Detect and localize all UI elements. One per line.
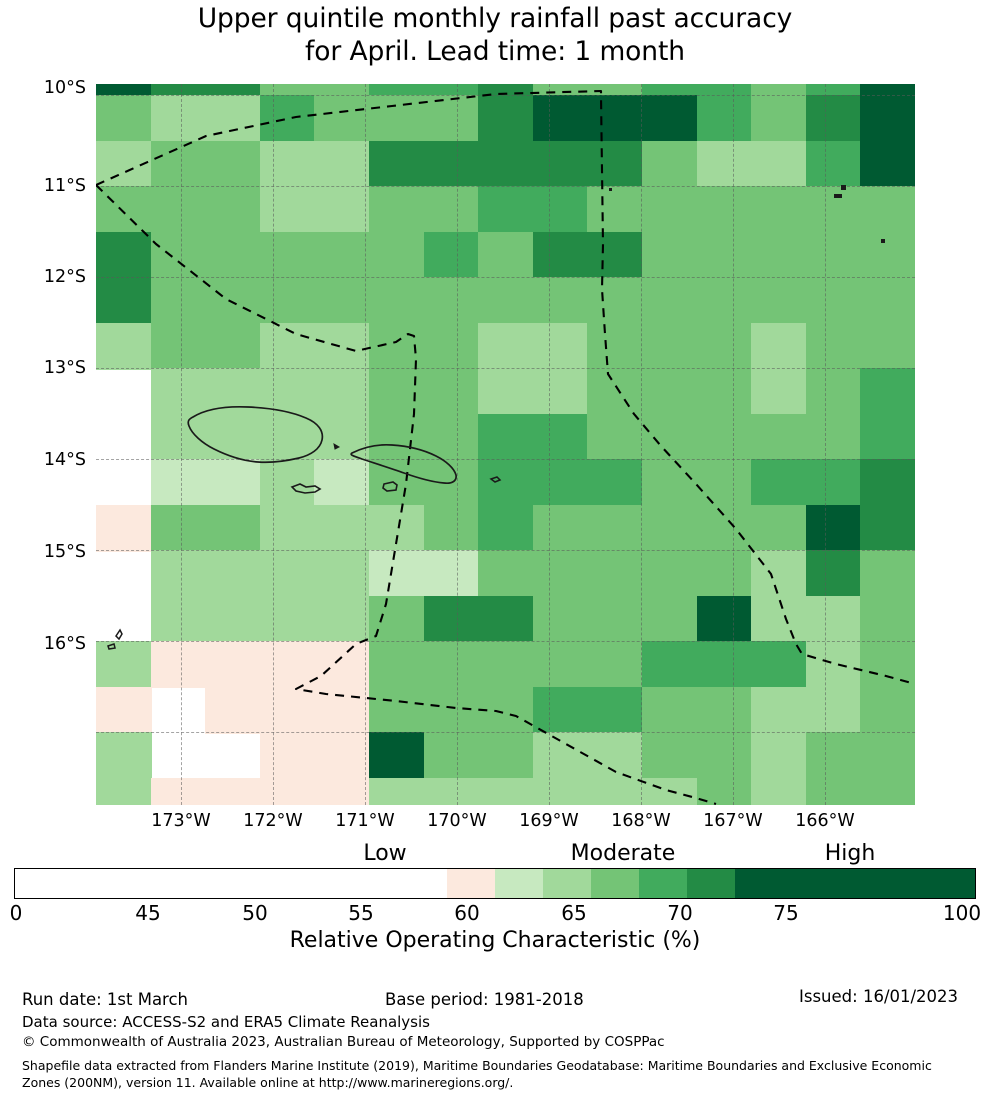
heatmap-cell xyxy=(314,778,370,806)
heatmap-cell xyxy=(369,141,425,188)
band-label-low: Low xyxy=(363,841,406,866)
heatmap-cell xyxy=(806,368,862,415)
heatmap-cell xyxy=(533,505,589,552)
heatmap-cell xyxy=(806,277,862,324)
x-tick-5: 168°W xyxy=(611,811,670,831)
heatmap-cell xyxy=(314,186,370,233)
heatmap-cell xyxy=(424,141,480,188)
issued-date-text: Issued: 16/01/2023 xyxy=(799,987,958,1006)
heatmap-cell xyxy=(369,414,425,461)
heatmap-cell xyxy=(314,505,370,552)
heatmap-cell xyxy=(642,596,698,643)
heatmap-cell xyxy=(533,323,589,370)
x-tick-7: 166°W xyxy=(795,811,854,831)
heatmap-cell xyxy=(806,95,862,142)
heatmap-cell xyxy=(369,596,425,643)
heatmap-cell xyxy=(751,732,807,779)
heatmap-cell xyxy=(587,778,643,806)
heatmap-cell xyxy=(806,641,862,688)
heatmap-cell xyxy=(697,186,753,233)
heatmap-cell xyxy=(642,232,698,279)
heatmap-cell xyxy=(642,778,698,806)
heatmap-cell xyxy=(260,641,316,688)
heatmap-cell xyxy=(424,687,480,734)
heatmap-cell xyxy=(587,550,643,597)
heatmap-cell xyxy=(751,232,807,279)
colorbar-axis-label: Relative Operating Characteristic (%) xyxy=(0,928,990,953)
x-tick-2: 171°W xyxy=(335,811,394,831)
heatmap-cell xyxy=(314,323,370,370)
heatmap-cell xyxy=(806,414,862,461)
colorbar-segment xyxy=(735,869,975,898)
heatmap-cell xyxy=(478,414,534,461)
heatmap-cell xyxy=(478,141,534,188)
heatmap-cell xyxy=(533,414,589,461)
heatmap-cell xyxy=(424,186,480,233)
heatmap-cell xyxy=(205,550,261,597)
heatmap-cell xyxy=(260,596,316,643)
heatmap-cell xyxy=(151,778,207,806)
heatmap-cell xyxy=(697,95,753,142)
heatmap-cell xyxy=(860,186,915,233)
heatmap-cell xyxy=(314,368,370,415)
heatmap-cell xyxy=(478,277,534,324)
heatmap-cell xyxy=(478,778,534,806)
heatmap-cell xyxy=(697,277,753,324)
heatmap-cell xyxy=(478,687,534,734)
heatmap-cell xyxy=(369,550,425,597)
heatmap-cell xyxy=(587,641,643,688)
heatmap-cell xyxy=(587,459,643,506)
heatmap-cell xyxy=(860,141,915,188)
heatmap-cell xyxy=(697,641,753,688)
heatmap-cell xyxy=(369,459,425,506)
heatmap-cell xyxy=(151,596,207,643)
colorbar-band-labels: Low Moderate High xyxy=(0,841,990,867)
heatmap-cell xyxy=(642,186,698,233)
heatmap-cell xyxy=(151,505,207,552)
heatmap-cell xyxy=(205,368,261,415)
heatmap-cell xyxy=(697,550,753,597)
heatmap-cell xyxy=(697,141,753,188)
heatmap-cell xyxy=(806,778,862,806)
heatmap-cell xyxy=(533,277,589,324)
heatmap-cell xyxy=(314,732,370,779)
heatmap-cell xyxy=(478,550,534,597)
heatmap-cell xyxy=(424,550,480,597)
heatmap-cell xyxy=(642,277,698,324)
page-title: Upper quintile monthly rainfall past acc… xyxy=(0,2,990,68)
heatmap-cell xyxy=(205,641,261,688)
shapefile-credit-text: Shapefile data extracted from Flanders M… xyxy=(22,1057,972,1091)
x-tick-6: 167°W xyxy=(703,811,762,831)
base-period-text: Base period: 1981-2018 xyxy=(385,990,584,1009)
heatmap-cell xyxy=(533,368,589,415)
heatmap-cell xyxy=(806,323,862,370)
heatmap-cell xyxy=(260,232,316,279)
heatmap-cell xyxy=(751,186,807,233)
heatmap-cell xyxy=(587,323,643,370)
heatmap-cell xyxy=(151,368,207,415)
heatmap-cell xyxy=(642,414,698,461)
heatmap-cell xyxy=(478,505,534,552)
heatmap-cell xyxy=(860,505,915,552)
heatmap-cell xyxy=(96,687,152,734)
heatmap-cell xyxy=(533,459,589,506)
heatmap-cell xyxy=(205,95,261,142)
heatmap-cell xyxy=(314,414,370,461)
x-tick-0: 173°W xyxy=(151,811,210,831)
heatmap-cell xyxy=(697,323,753,370)
heatmap-cell xyxy=(151,414,207,461)
heatmap-cell xyxy=(151,232,207,279)
x-tick-3: 170°W xyxy=(427,811,486,831)
heatmap-cell xyxy=(260,778,316,806)
heatmap-cell xyxy=(587,505,643,552)
heatmap-cell xyxy=(260,95,316,142)
heatmap-cell xyxy=(642,95,698,142)
heatmap-cell xyxy=(205,459,261,506)
heatmap-cell xyxy=(260,414,316,461)
heatmap-cell xyxy=(151,186,207,233)
heatmap-cell xyxy=(806,596,862,643)
heatmap-cell xyxy=(478,641,534,688)
heatmap-cell xyxy=(860,596,915,643)
heatmap-cell xyxy=(697,687,753,734)
heatmap-cell xyxy=(587,232,643,279)
heatmap-cell xyxy=(751,505,807,552)
heatmap-cell xyxy=(369,641,425,688)
heatmap-cell xyxy=(697,232,753,279)
heatmap-cell xyxy=(860,414,915,461)
heatmap-cell xyxy=(424,277,480,324)
heatmap-cell xyxy=(642,323,698,370)
heatmap-cell xyxy=(260,368,316,415)
heatmap-cell xyxy=(806,141,862,188)
heatmap-cell xyxy=(205,505,261,552)
heatmap-cell xyxy=(205,186,261,233)
x-tick-4: 169°W xyxy=(519,811,578,831)
colorbar-segment xyxy=(495,869,543,898)
cbar-tick-3: 55 xyxy=(348,901,373,925)
heatmap-cell xyxy=(424,641,480,688)
heatmap-cell xyxy=(642,141,698,188)
cbar-tick-0: 0 xyxy=(10,901,23,925)
heatmap-cell xyxy=(151,141,207,188)
heatmap-cell xyxy=(860,459,915,506)
heatmap-cell xyxy=(860,232,915,279)
heatmap-cell xyxy=(314,687,370,734)
cbar-tick-4: 60 xyxy=(454,901,479,925)
heatmap-cell xyxy=(860,368,915,415)
y-tick-3: 13°S xyxy=(0,358,86,378)
heatmap-cell xyxy=(533,232,589,279)
heatmap-cell xyxy=(205,778,261,806)
heatmap-cell xyxy=(587,141,643,188)
heatmap-cell xyxy=(369,232,425,279)
heatmap-cell xyxy=(533,778,589,806)
cbar-tick-7: 75 xyxy=(773,901,798,925)
y-tick-2: 12°S xyxy=(0,267,86,287)
heatmap-cell xyxy=(369,186,425,233)
heatmap-cell xyxy=(151,95,207,142)
heatmap-cell xyxy=(96,778,152,806)
heatmap-cell xyxy=(151,641,207,688)
heatmap-cell xyxy=(424,368,480,415)
heatmap-cell xyxy=(751,95,807,142)
heatmap-cell xyxy=(697,732,753,779)
heatmap-cell xyxy=(424,414,480,461)
colorbar-segment xyxy=(15,869,447,898)
heatmap-cell xyxy=(697,414,753,461)
band-label-moderate: Moderate xyxy=(571,841,676,866)
heatmap-cell xyxy=(533,186,589,233)
heatmap-cell xyxy=(751,596,807,643)
heatmap-cell xyxy=(478,368,534,415)
heatmap-cell xyxy=(369,368,425,415)
colorbar-segment xyxy=(447,869,495,898)
heatmap-cell xyxy=(314,550,370,597)
heatmap-cell xyxy=(205,323,261,370)
copyright-text: © Commonwealth of Australia 2023, Austra… xyxy=(22,1034,665,1050)
heatmap-cell xyxy=(697,505,753,552)
heatmap-cell xyxy=(314,459,370,506)
heatmap-cell xyxy=(369,778,425,806)
heatmap-cell xyxy=(751,323,807,370)
heatmap-cell xyxy=(697,368,753,415)
heatmap-cell xyxy=(260,141,316,188)
colorbar-segment xyxy=(543,869,591,898)
heatmap-cell xyxy=(314,277,370,324)
heatmap-cell xyxy=(697,778,753,806)
colorbar-ticks: 0 45 50 55 60 65 70 75 100 xyxy=(0,901,990,925)
heatmap-cell xyxy=(151,550,207,597)
heatmap-cell xyxy=(96,232,152,279)
heatmap-cell xyxy=(806,732,862,779)
heatmap-cell xyxy=(205,232,261,279)
heatmap-cell xyxy=(96,186,152,233)
heatmap-cell xyxy=(860,550,915,597)
heatmap-cell xyxy=(751,459,807,506)
heatmap-cell xyxy=(751,550,807,597)
heatmap-cell xyxy=(424,232,480,279)
heatmap-cell xyxy=(587,186,643,233)
heatmap-cell xyxy=(205,596,261,643)
heatmap-cell xyxy=(424,95,480,142)
heatmap-cell xyxy=(806,550,862,597)
heatmap-cell xyxy=(96,95,152,142)
heatmap-cell xyxy=(96,505,152,552)
heatmap-cell xyxy=(860,277,915,324)
heatmap-cell xyxy=(642,641,698,688)
heatmap-cell xyxy=(533,732,589,779)
rainfall-accuracy-map[interactable] xyxy=(96,84,915,805)
heatmap-cell xyxy=(533,641,589,688)
cbar-tick-5: 65 xyxy=(561,901,586,925)
heatmap-cell xyxy=(96,641,152,688)
heatmap-cell xyxy=(205,277,261,324)
heatmap-cell xyxy=(587,596,643,643)
cbar-tick-1: 45 xyxy=(135,901,160,925)
heatmap-cell xyxy=(533,687,589,734)
band-label-high: High xyxy=(825,841,876,866)
heatmap-cell xyxy=(642,459,698,506)
heatmap-cell xyxy=(533,550,589,597)
heatmap-cell xyxy=(260,732,316,779)
heatmap-cell xyxy=(314,596,370,643)
heatmap-cell xyxy=(369,687,425,734)
heatmap-cell xyxy=(260,459,316,506)
heatmap-cell xyxy=(478,596,534,643)
heatmap-cell xyxy=(424,505,480,552)
heatmap-cell xyxy=(587,732,643,779)
cbar-tick-6: 70 xyxy=(667,901,692,925)
heatmap-cell xyxy=(151,459,207,506)
heatmap-cell xyxy=(751,277,807,324)
heatmap-cell xyxy=(642,687,698,734)
heatmap-cell xyxy=(533,141,589,188)
heatmap-cell xyxy=(478,323,534,370)
heatmap-cell xyxy=(860,323,915,370)
heatmap-cell xyxy=(369,95,425,142)
heatmap-cell xyxy=(642,550,698,597)
heatmap-cell xyxy=(642,505,698,552)
heatmap-cell xyxy=(478,459,534,506)
y-tick-0: 10°S xyxy=(0,78,86,98)
heatmap-cell xyxy=(369,323,425,370)
heatmap-cell xyxy=(96,323,152,370)
heatmap-cell xyxy=(478,95,534,142)
heatmap-cell xyxy=(642,732,698,779)
x-tick-1: 172°W xyxy=(243,811,302,831)
heatmap-cell xyxy=(478,186,534,233)
heatmap-cell xyxy=(860,687,915,734)
heatmap-cell xyxy=(151,277,207,324)
heatmap-cell xyxy=(205,141,261,188)
heatmap-cell xyxy=(424,596,480,643)
heatmap-cell xyxy=(806,505,862,552)
heatmap-cell xyxy=(751,687,807,734)
heatmap-cell xyxy=(205,687,261,734)
heatmap-cell xyxy=(260,277,316,324)
y-tick-6: 16°S xyxy=(0,634,86,654)
y-tick-4: 14°S xyxy=(0,450,86,470)
heatmap-cell xyxy=(860,732,915,779)
heatmap-cell xyxy=(751,641,807,688)
heatmap-cell xyxy=(806,459,862,506)
heatmap-cell xyxy=(860,641,915,688)
heatmap-cell xyxy=(260,323,316,370)
run-date-text: Run date: 1st March xyxy=(22,990,188,1009)
heatmap-cell xyxy=(533,596,589,643)
heatmap-cell xyxy=(151,323,207,370)
heatmap-cell xyxy=(96,277,152,324)
data-source-text: Data source: ACCESS-S2 and ERA5 Climate … xyxy=(22,1013,430,1031)
cbar-tick-8: 100 xyxy=(943,901,981,925)
heatmap-cell xyxy=(314,641,370,688)
heatmap-cell xyxy=(806,186,862,233)
heatmap-cell xyxy=(806,232,862,279)
heatmap-cell xyxy=(697,596,753,643)
y-tick-1: 11°S xyxy=(0,176,86,196)
heatmap-cell xyxy=(751,141,807,188)
heatmap-cell xyxy=(478,732,534,779)
heatmap-cell xyxy=(751,414,807,461)
heatmap-cell xyxy=(424,732,480,779)
heatmap-cell xyxy=(369,732,425,779)
colorbar[interactable] xyxy=(14,868,976,899)
heatmap-cell xyxy=(587,687,643,734)
heatmap-cell xyxy=(314,95,370,142)
heatmap-cell xyxy=(424,323,480,370)
heatmap-cell xyxy=(587,95,643,142)
heatmap-cell xyxy=(205,414,261,461)
heatmap-cell xyxy=(314,232,370,279)
heatmap-cell xyxy=(369,505,425,552)
heatmap-cell xyxy=(587,414,643,461)
y-tick-5: 15°S xyxy=(0,542,86,562)
heatmap-cell xyxy=(751,368,807,415)
heatmap-cell xyxy=(314,141,370,188)
heatmap-cell xyxy=(642,368,698,415)
heatmap-cell xyxy=(369,277,425,324)
colorbar-segment xyxy=(639,869,687,898)
colorbar-segment xyxy=(687,869,735,898)
heatmap-cell xyxy=(806,687,862,734)
cbar-tick-2: 50 xyxy=(242,901,267,925)
heatmap-cell xyxy=(751,778,807,806)
heatmap-cell xyxy=(260,550,316,597)
colorbar-segment xyxy=(591,869,639,898)
heatmap-cell xyxy=(96,732,152,779)
heatmap-cell xyxy=(424,778,480,806)
heatmap-cell xyxy=(260,505,316,552)
heatmap-cell xyxy=(860,778,915,806)
heatmap-cell xyxy=(424,459,480,506)
heatmap-cell xyxy=(587,368,643,415)
heatmap-cell xyxy=(697,459,753,506)
heatmap-cell xyxy=(587,277,643,324)
heatmap-cell xyxy=(478,232,534,279)
heatmap-cell xyxy=(260,687,316,734)
heatmap-cell xyxy=(260,186,316,233)
heatmap-cell xyxy=(860,95,915,142)
heatmap-cell xyxy=(96,141,152,188)
heatmap-grid[interactable] xyxy=(96,84,915,805)
heatmap-cell xyxy=(533,95,589,142)
